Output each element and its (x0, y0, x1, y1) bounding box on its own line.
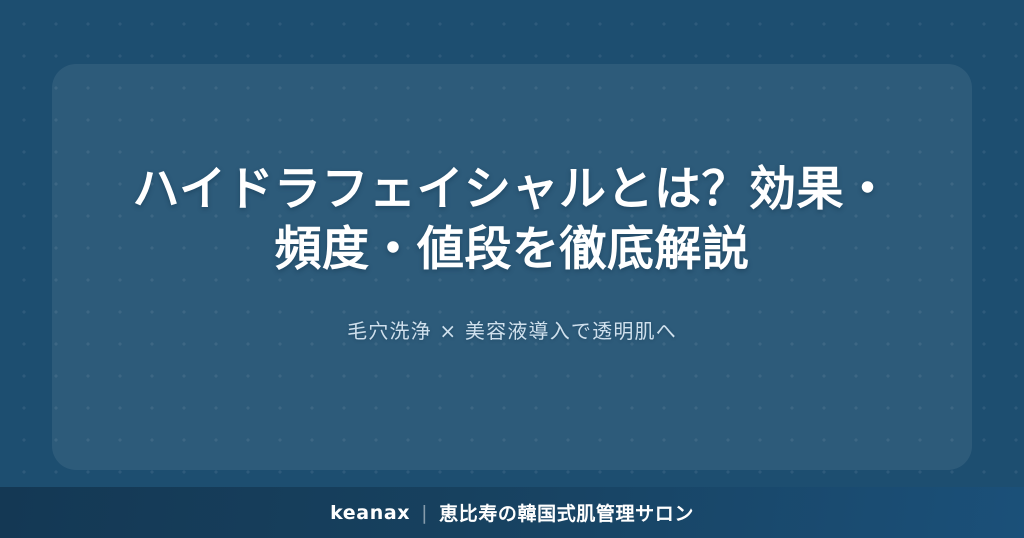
hero-text-block: ハイドラフェイシャルとは？効果・ 頻度・値段を徹底解説 毛穴洗浄 × 美容液導入… (112, 160, 912, 346)
footer-credit: keanax | 恵比寿の韓国式肌管理サロン (330, 499, 694, 526)
hero-banner: ハイドラフェイシャルとは？効果・ 頻度・値段を徹底解説 毛穴洗浄 × 美容液導入… (0, 0, 1024, 538)
footer-bar: keanax | 恵比寿の韓国式肌管理サロン (0, 487, 1024, 538)
brand-name: keanax (330, 502, 410, 524)
page-subtitle: 毛穴洗浄 × 美容液導入で透明肌へ (112, 316, 912, 346)
page-title: ハイドラフェイシャルとは？効果・ 頻度・値段を徹底解説 (112, 160, 912, 280)
footer-separator: | (421, 502, 428, 524)
footer-tagline: 恵比寿の韓国式肌管理サロン (439, 499, 694, 526)
hero-card: ハイドラフェイシャルとは？効果・ 頻度・値段を徹底解説 毛穴洗浄 × 美容液導入… (52, 64, 972, 470)
